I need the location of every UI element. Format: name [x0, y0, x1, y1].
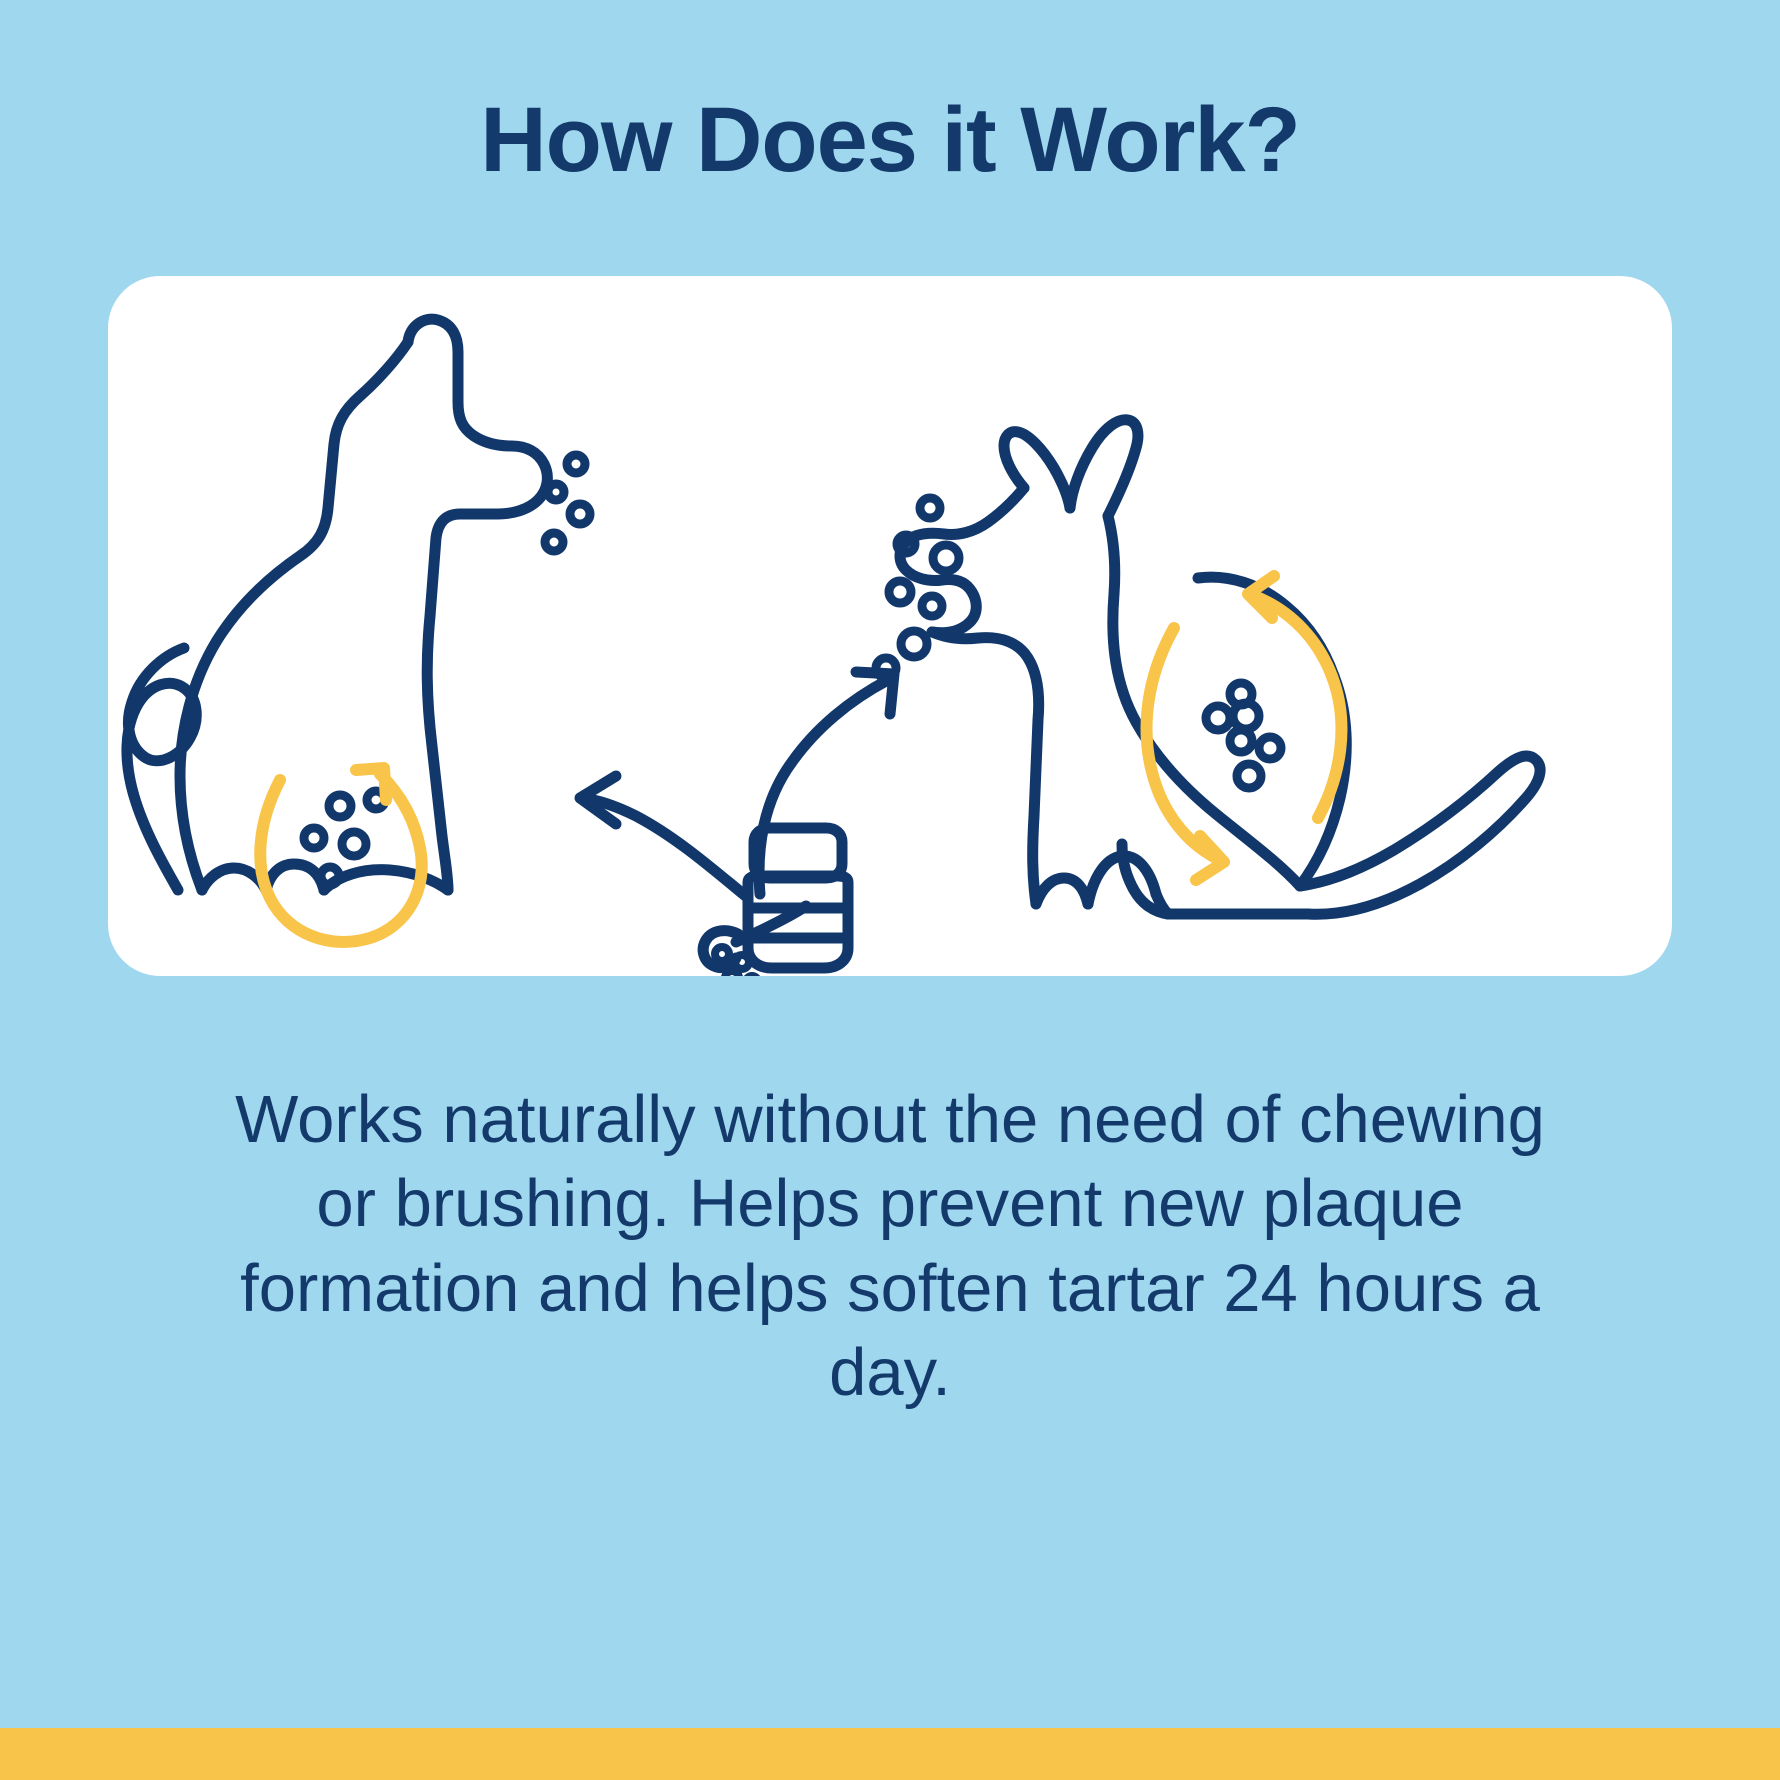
cat-outline [127, 319, 547, 890]
dog-bubbles [1206, 683, 1281, 788]
illustration-card [108, 276, 1672, 976]
how-it-works-diagram [108, 276, 1672, 976]
page-root: How Does it Work? [0, 0, 1780, 1780]
body-paragraph: Works naturally without the need of chew… [210, 1078, 1570, 1416]
page-title: How Does it Work? [480, 0, 1300, 189]
dog-outline [900, 420, 1540, 915]
bottom-accent-bar [0, 1728, 1780, 1780]
arrow-jar-to-cat [580, 776, 748, 898]
dog-bubble-trail [876, 498, 959, 678]
arrow-jar-to-dog [759, 672, 894, 894]
